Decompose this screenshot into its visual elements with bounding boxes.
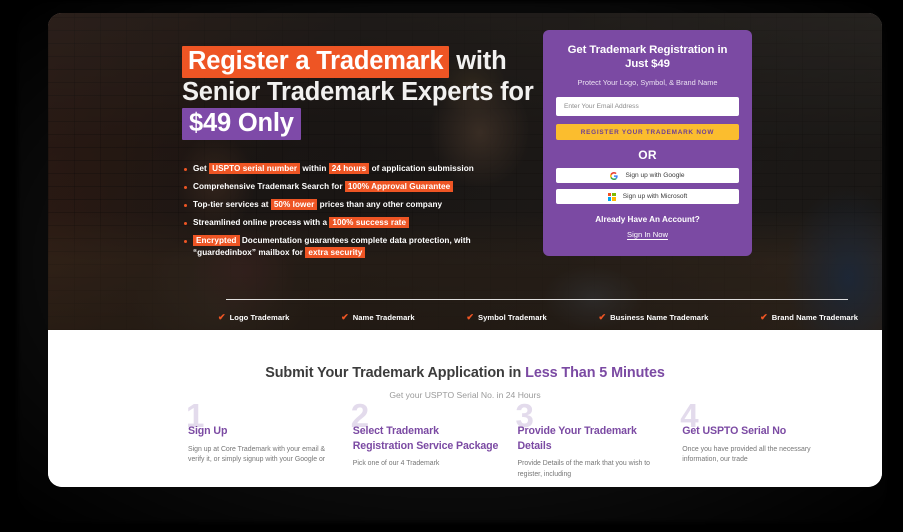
trademark-badge-label: Brand Name Trademark [772,313,858,322]
hero-benefit-list: Get USPTO serial number within 24 hours … [184,163,534,259]
hero-section: Register a Trademark with Senior Tradema… [48,13,882,330]
benefit-highlight: 50% lower [271,199,318,210]
signup-title: Get Trademark Registration in Just $49 [556,43,739,71]
headline-highlight-register: Register a Trademark [182,46,449,78]
benefit-text: of application submission [369,164,474,173]
benefit-highlight: USPTO serial number [209,163,300,174]
trademark-badge: ✔Business Name Trademark [599,313,709,322]
google-button-label: Sign up with Google [625,172,684,179]
register-trademark-button[interactable]: REGISTER YOUR TRADEMARK NOW [556,124,739,140]
signup-with-google-button[interactable]: Sign up with Google [556,168,739,183]
trademark-badge-label: Symbol Trademark [478,313,547,322]
benefit-text: within [300,164,329,173]
benefit-item: Encrypted Documentation guarantees compl… [184,235,534,259]
google-icon [610,172,618,180]
step-heading: Provide Your Trademark Details [518,424,664,453]
screenshot-root: Register a Trademark with Senior Tradema… [0,0,903,532]
trademark-badge-label: Name Trademark [353,313,415,322]
steps-grid: 1Sign UpSign up at Core Trademark with y… [188,408,828,480]
benefit-item: Streamlined online process with a 100% s… [184,217,534,229]
process-step: 4Get USPTO Serial NoOnce you have provid… [682,408,828,480]
headline-with-text: with [449,47,506,75]
step-heading: Get USPTO Serial No [682,424,828,439]
process-step: 1Sign UpSign up at Core Trademark with y… [188,408,334,480]
trademark-badge: ✔Brand Name Trademark [760,313,858,322]
sign-in-now-link[interactable]: Sign In Now [627,230,668,239]
process-step: 2Select Trademark Registration Service P… [353,408,499,480]
trademark-badge-label: Logo Trademark [230,313,290,322]
hero-divider-line [226,299,848,300]
benefit-item: Get USPTO serial number within 24 hours … [184,163,534,175]
step-body: Provide Details of the mark that you wis… [518,459,664,480]
or-separator-label: OR [556,148,739,162]
headline-line-2: Senior Trademark Experts for [182,77,562,108]
process-step: 3Provide Your Trademark DetailsProvide D… [518,408,664,480]
benefit-highlight: extra security [305,247,365,258]
benefit-text: “guardedinbox” mailbox for [193,248,305,257]
microsoft-button-label: Sign up with Microsoft [623,193,688,200]
have-account-label: Already Have An Account? [556,215,739,224]
benefit-text: Get [193,164,209,173]
process-steps-section: Submit Your Trademark Application in Les… [48,330,882,487]
check-icon: ✔ [341,313,349,322]
browser-page: Register a Trademark with Senior Tradema… [48,13,882,487]
email-input[interactable] [556,97,739,116]
benefit-highlight: 24 hours [329,163,370,174]
signup-subtitle: Protect Your Logo, Symbol, & Brand Name [556,77,739,88]
section-title-accent: Less Than 5 Minutes [525,365,665,381]
headline-highlight-price: $49 Only [182,108,301,140]
signup-with-microsoft-button[interactable]: Sign up with Microsoft [556,189,739,204]
trademark-badge-label: Business Name Trademark [610,313,708,322]
benefit-text: Documentation guarantees complete data p… [240,236,471,245]
benefit-text: prices than any other company [317,200,442,209]
check-icon: ✔ [218,313,226,322]
benefit-item: Comprehensive Trademark Search for 100% … [184,181,534,193]
section-title-main: Submit Your Trademark Application in [265,365,525,381]
check-icon: ✔ [599,313,607,322]
microsoft-icon [608,193,616,201]
benefit-highlight: 100% success rate [329,217,409,228]
step-body: Once you have provided all the necessary… [682,445,828,466]
trademark-badge: ✔Logo Trademark [218,313,289,322]
step-heading: Sign Up [188,424,334,439]
benefit-highlight: Encrypted [193,235,240,246]
step-heading: Select Trademark Registration Service Pa… [353,424,499,453]
benefit-text: Comprehensive Trademark Search for [193,182,345,191]
section-title: Submit Your Trademark Application in Les… [48,365,882,381]
benefit-item: Top-tier services at 50% lower prices th… [184,199,534,211]
hero-headline: Register a Trademark with Senior Tradema… [182,46,562,139]
section-subtitle: Get your USPTO Serial No. in 24 Hours [48,390,882,400]
step-body: Pick one of our 4 Trademark [353,459,499,470]
benefit-text: Streamlined online process with a [193,218,329,227]
benefit-text: Top-tier services at [193,200,271,209]
check-icon: ✔ [760,313,768,322]
trademark-badge: ✔Name Trademark [341,313,415,322]
trademark-badge: ✔Symbol Trademark [466,313,546,322]
benefit-highlight: 100% Approval Guarantee [345,181,453,192]
trademark-type-badges: ✔Logo Trademark✔Name Trademark✔Symbol Tr… [218,313,858,322]
check-icon: ✔ [466,313,474,322]
signup-panel: Get Trademark Registration in Just $49 P… [543,30,752,256]
step-body: Sign up at Core Trademark with your emai… [188,445,334,466]
